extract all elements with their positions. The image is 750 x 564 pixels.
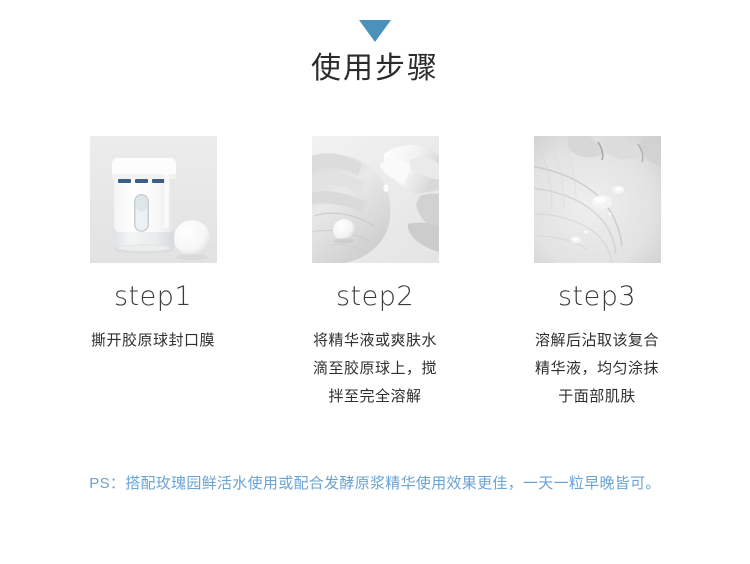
page-title: 使用步骤	[0, 50, 750, 88]
step-1-label: step1	[42, 281, 264, 313]
step-item-1: step1 撕开胶原球封口膜	[42, 136, 264, 355]
step-2-desc-line-2: 滴至胶原球上，搅	[264, 355, 486, 383]
step-2-desc-line-1: 将精华液或爽肤水	[264, 327, 486, 355]
step-2-image	[312, 136, 439, 263]
step-3-desc-line-1: 溶解后沾取该复合	[486, 327, 708, 355]
steps-row: step1 撕开胶原球封口膜	[0, 136, 750, 411]
down-triangle-icon	[359, 20, 391, 42]
step-2-desc-line-3: 拌至完全溶解	[264, 383, 486, 411]
page-header: 使用步骤	[0, 0, 750, 88]
usage-steps-page: 使用步骤	[0, 0, 750, 564]
step-2-label: step2	[264, 281, 486, 313]
step-3-desc-line-2: 精华液，均匀涂抹	[486, 355, 708, 383]
ps-note: PS：搭配玫瑰园鲜活水使用或配合发酵原浆精华使用效果更佳，一天一粒早晚皆可。	[0, 472, 750, 496]
step-item-2: step2 将精华液或爽肤水 滴至胶原球上，搅 拌至完全溶解	[264, 136, 486, 411]
step-1-desc-line-1: 撕开胶原球封口膜	[42, 327, 264, 355]
step-3-description: 溶解后沾取该复合 精华液，均匀涂抹 于面部肌肤	[486, 327, 708, 411]
step-3-desc-line-3: 于面部肌肤	[486, 383, 708, 411]
step-1-description: 撕开胶原球封口膜	[42, 327, 264, 355]
step-item-3: step3 溶解后沾取该复合 精华液，均匀涂抹 于面部肌肤	[486, 136, 708, 411]
step-3-image	[534, 136, 661, 263]
step-1-image	[90, 136, 217, 263]
triangle-marker-wrap	[0, 20, 750, 42]
step-3-label: step3	[486, 281, 708, 313]
step-2-description: 将精华液或爽肤水 滴至胶原球上，搅 拌至完全溶解	[264, 327, 486, 411]
